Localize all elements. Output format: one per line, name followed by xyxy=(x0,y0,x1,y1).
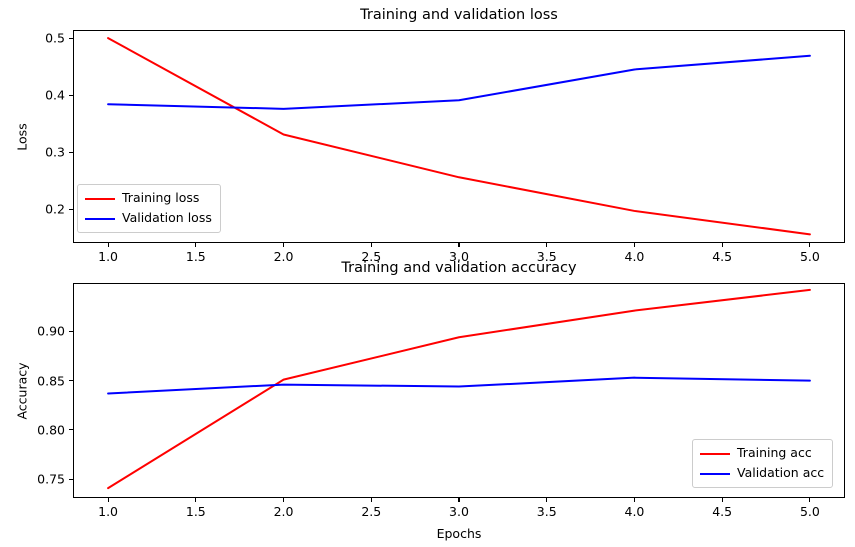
legend-entry[interactable]: Validation acc xyxy=(700,465,824,482)
legend-line-swatch xyxy=(700,453,730,455)
legend-accuracy[interactable]: Training accValidation acc xyxy=(692,439,833,488)
legend-line-swatch xyxy=(700,473,730,475)
legend-entry[interactable]: Training acc xyxy=(700,445,824,462)
matplotlib-figure: Training and validation loss Loss 0.20.3… xyxy=(0,0,855,547)
legend-label: Validation acc xyxy=(737,467,824,480)
line-series xyxy=(108,378,810,394)
legend-label: Training acc xyxy=(737,447,812,460)
